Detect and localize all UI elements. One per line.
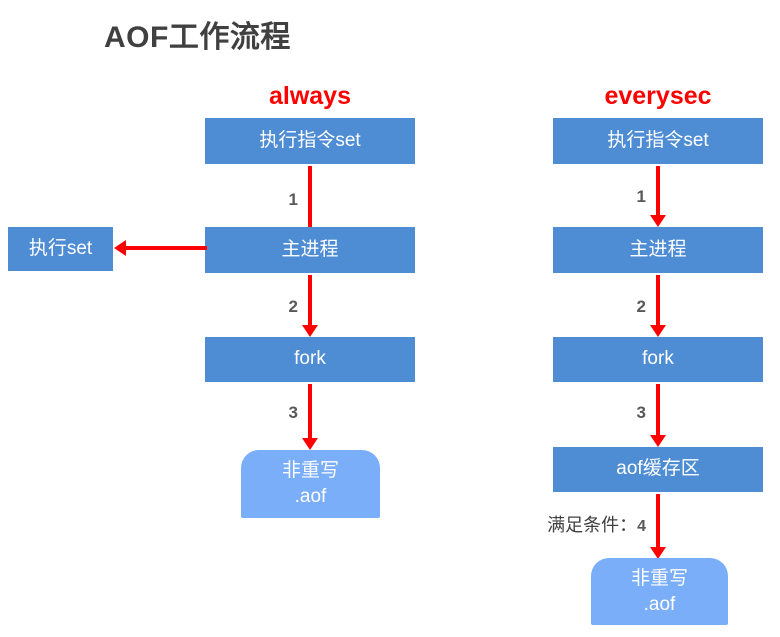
edge-label-everysec-4: 满足条件：4 — [486, 511, 646, 537]
node-everysec-fork: fork — [553, 337, 763, 382]
arrow-always-3 — [308, 384, 312, 439]
node-label: 执行指令set — [259, 131, 360, 152]
arrow-everysec-1 — [656, 166, 660, 216]
node-label: 主进程 — [281, 240, 338, 261]
node-always-exec-cmd-set: 执行指令set — [205, 118, 415, 164]
node-label: fork — [294, 349, 326, 370]
node-always-exec-set: 执行set — [8, 227, 113, 271]
node-label-line1: 非重写 — [282, 458, 339, 484]
edge-step-number: 4 — [637, 518, 646, 535]
node-always-main-process: 主进程 — [205, 227, 415, 273]
column-label-everysec: everysec — [583, 82, 733, 111]
diagram-canvas: AOF工作流程 always 执行指令set 1 主进程 执行set 2 for… — [0, 0, 780, 637]
edge-label-always-2: 2 — [268, 297, 298, 317]
node-label: 主进程 — [629, 240, 686, 261]
node-always-fork: fork — [205, 337, 415, 382]
node-label-line2: .aof — [644, 592, 676, 618]
node-always-non-rewrite-aof: 非重写 .aof — [241, 450, 380, 518]
edge-label-everysec-3: 3 — [616, 403, 646, 423]
node-everysec-exec-cmd-set: 执行指令set — [553, 118, 763, 164]
node-label: 执行指令set — [607, 131, 708, 152]
node-label-line2: .aof — [295, 484, 327, 510]
node-label: fork — [642, 349, 674, 370]
arrow-always-1 — [308, 166, 312, 236]
edge-label-everysec-2: 2 — [616, 297, 646, 317]
node-label: 执行set — [29, 239, 92, 260]
node-label-line1: 非重写 — [631, 566, 688, 592]
node-everysec-non-rewrite-aof: 非重写 .aof — [591, 558, 728, 625]
arrow-always-2 — [308, 275, 312, 326]
arrow-everysec-4 — [656, 494, 660, 548]
edge-label-everysec-1: 1 — [616, 187, 646, 207]
node-everysec-main-process: 主进程 — [553, 227, 763, 273]
arrow-always-main-to-exec-set — [125, 246, 207, 250]
arrow-everysec-3 — [656, 384, 660, 436]
node-label: aof缓存区 — [616, 459, 699, 480]
arrow-everysec-2 — [656, 275, 660, 326]
edge-condition-text: 满足条件： — [547, 515, 637, 535]
node-everysec-aof-buffer: aof缓存区 — [553, 447, 763, 492]
column-label-always: always — [235, 82, 385, 111]
edge-label-always-3: 3 — [268, 403, 298, 423]
edge-label-always-1: 1 — [268, 190, 298, 210]
page-title: AOF工作流程 — [104, 12, 291, 56]
